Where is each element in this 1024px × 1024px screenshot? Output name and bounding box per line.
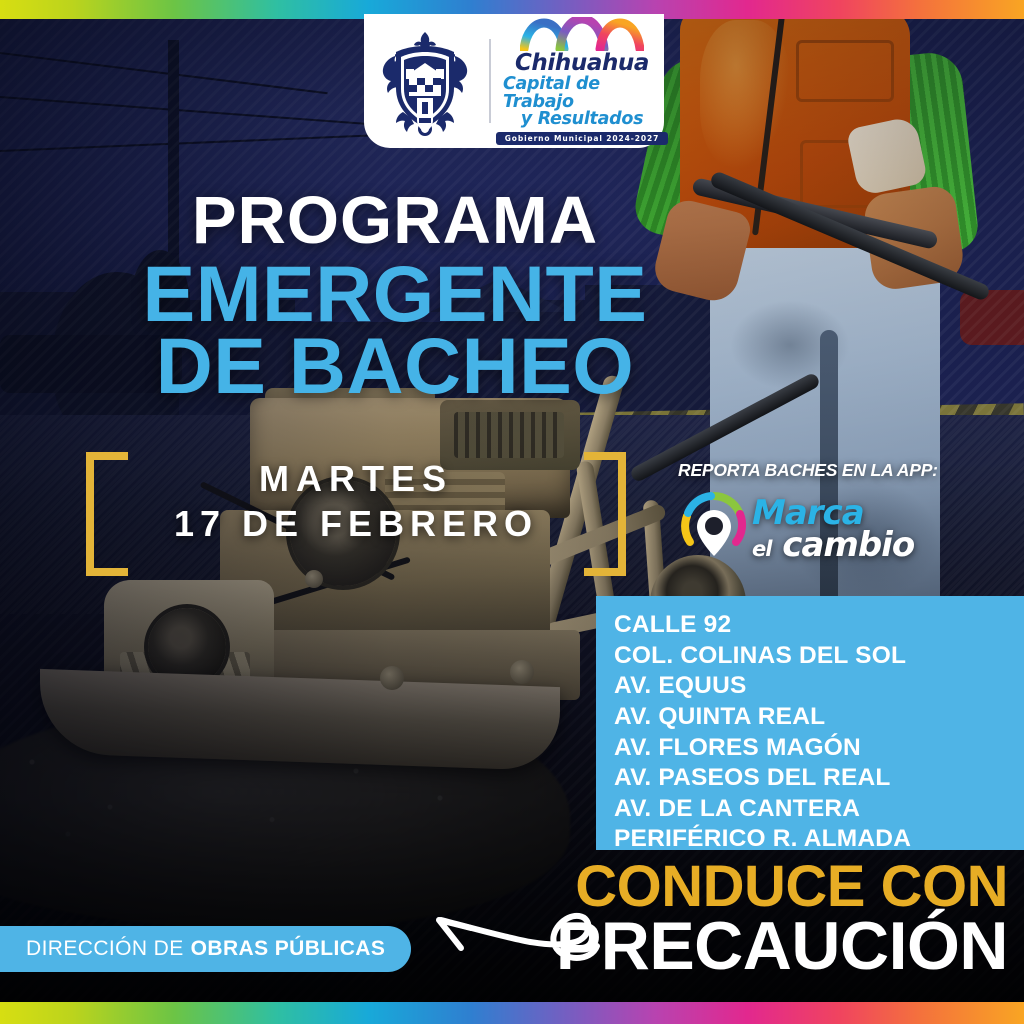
date-weekday: MARTES	[86, 456, 626, 501]
report-app-block: REPORTA BACHES EN LA APP: Marca el cambi…	[678, 460, 978, 568]
marca-el-cambio-logo[interactable]: Marca el cambio	[678, 490, 978, 568]
poster-canvas: Chihuahua Capital de Trabajo y Resultado…	[0, 0, 1024, 1024]
app-name-text: Marca el cambio	[752, 500, 914, 560]
slogan-line-2: PRECAUCIÓN	[556, 913, 1008, 980]
street-item: AV. PASEOS DEL REAL	[614, 763, 1024, 794]
date-block: MARTES 17 DE FEBRERO	[86, 452, 626, 562]
street-item: CALLE 92	[614, 610, 1024, 641]
rainbow-gradient-bar-bottom	[0, 1002, 1024, 1024]
headline-line-3: DE BACHEO	[0, 328, 790, 405]
department-name: OBRAS PÚBLICAS	[191, 937, 386, 961]
government-logo-box: Chihuahua Capital de Trabajo y Resultado…	[364, 14, 664, 148]
chihuahua-wordmark: Chihuahua Capital de Trabajo y Resultado…	[503, 17, 661, 146]
date-text: MARTES 17 DE FEBRERO	[86, 456, 626, 546]
street-list-panel: CALLE 92 COL. COLINAS DEL SOL AV. EQUUS …	[596, 596, 1024, 850]
street-item: AV. DE LA CANTERA	[614, 794, 1024, 825]
logo-divider	[489, 39, 491, 123]
logo-tagline-1: Capital de Trabajo	[503, 76, 661, 112]
date-day-month: 17 DE FEBRERO	[86, 501, 626, 546]
safety-slogan: CONDUCE CON PRECAUCIÓN	[556, 859, 1008, 980]
department-badge: DIRECCIÓN DE OBRAS PÚBLICAS	[0, 926, 411, 972]
street-item: COL. COLINAS DEL SOL	[614, 641, 1024, 672]
headline-block: PROGRAMA EMERGENTE DE BACHEO	[0, 188, 790, 405]
app-name-cambio-word: cambio	[782, 525, 914, 565]
chihuahua-coat-of-arms-icon	[373, 26, 477, 136]
slogan-line-1: CONDUCE CON	[556, 859, 1008, 916]
chihuahua-mountains-icon	[520, 17, 644, 51]
street-item: AV. FLORES MAGÓN	[614, 733, 1024, 764]
app-callout-label: REPORTA BACHES EN LA APP:	[678, 460, 978, 481]
logo-government-period: Gobierno Municipal 2024-2027	[496, 132, 669, 145]
street-item: AV. EQUUS	[614, 671, 1024, 702]
map-pin-icon	[678, 490, 750, 568]
app-name-marca: Marca	[752, 500, 914, 528]
logo-city-name: Chihuahua	[515, 52, 649, 75]
logo-tagline-2: y Resultados	[521, 111, 643, 129]
street-item: AV. QUINTA REAL	[614, 702, 1024, 733]
street-item: PERIFÉRICO R. ALMADA	[614, 824, 1024, 855]
curly-arrow-icon	[415, 876, 605, 966]
app-name-el: el	[752, 537, 771, 561]
app-name-cambio: el cambio	[752, 530, 914, 561]
headline-line-1: PROGRAMA	[0, 188, 790, 254]
department-prefix: DIRECCIÓN DE	[26, 937, 184, 961]
